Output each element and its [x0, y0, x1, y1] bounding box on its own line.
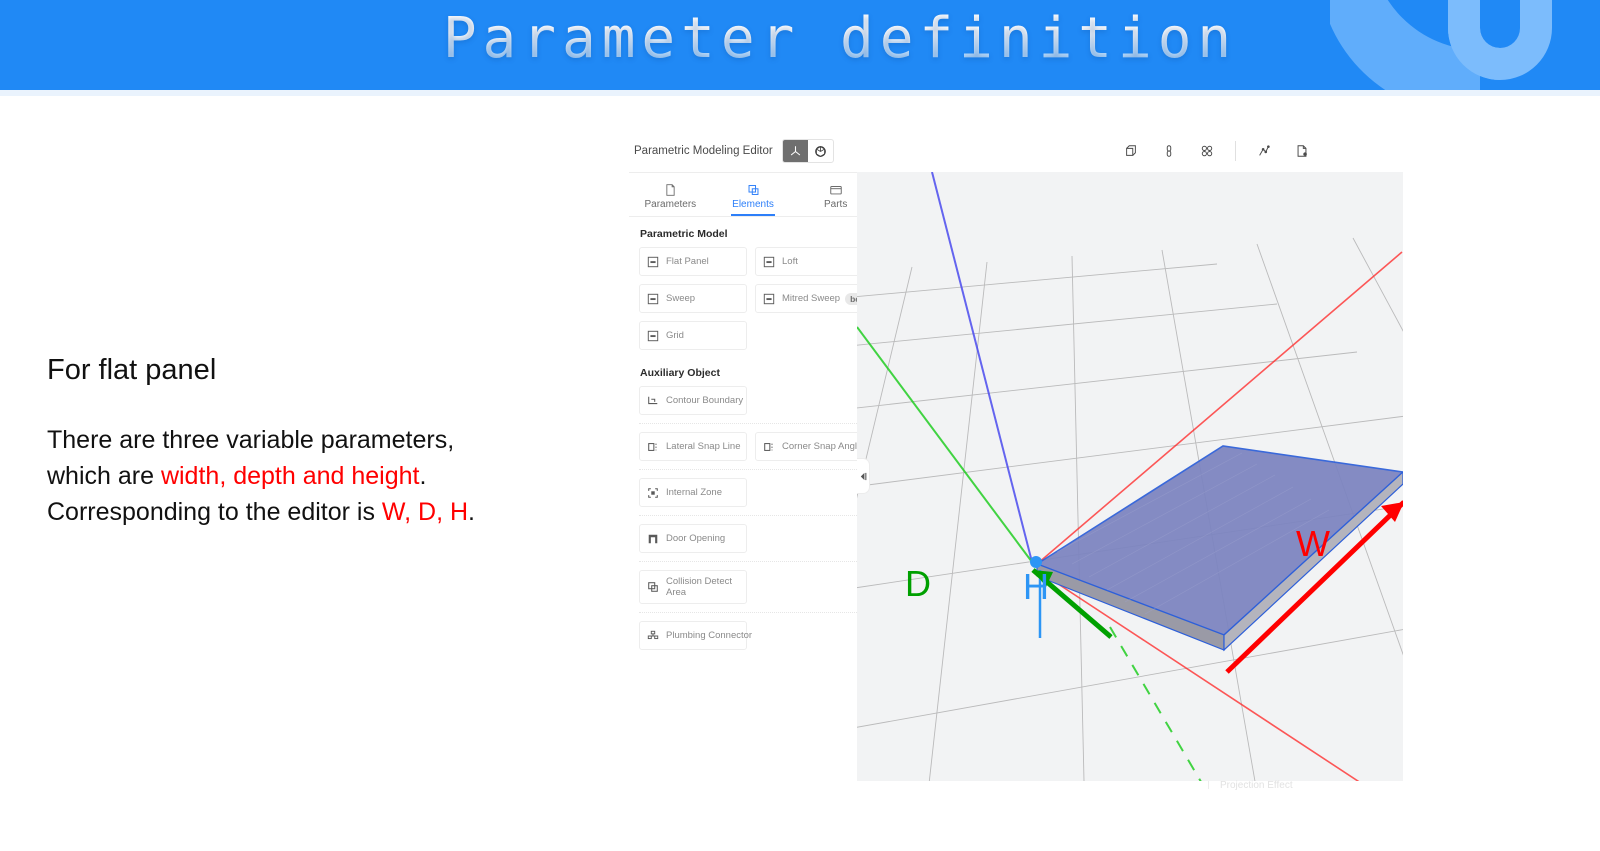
auxiliary-object-items: Contour Boundary: [629, 386, 877, 415]
element-label: Loft: [782, 256, 798, 267]
3d-viewport[interactable]: [857, 172, 1403, 781]
editor-toolbar: [1112, 140, 1321, 162]
parametric-modeling-editor: Parametric Modeling Editor: [608, 131, 1403, 789]
tab-parts-label: Parts: [824, 199, 847, 210]
panel-icon: [762, 292, 775, 305]
snap-line-icon: [646, 440, 659, 453]
zone-icon: [646, 486, 659, 499]
element-contour-boundary[interactable]: Contour Boundary: [639, 386, 747, 415]
element-mitred-sweep[interactable]: Mitred Sweep beta: [755, 284, 863, 313]
element-label: Door Opening: [666, 533, 725, 544]
layers-icon: [747, 183, 760, 197]
folder-icon: [829, 183, 843, 197]
auxiliary-object-items-row2: Lateral Snap Line Corner Snap Angle: [629, 432, 877, 461]
editor-title-group: Parametric Modeling Editor: [634, 139, 834, 163]
sidebar-content: Parametric Model ▲ Flat Panel Loft: [629, 217, 877, 650]
tab-parameters[interactable]: Parameters: [629, 173, 712, 216]
element-grid[interactable]: Grid: [639, 321, 747, 350]
origin-handle: [1030, 556, 1042, 568]
tab-elements[interactable]: Elements: [712, 173, 795, 216]
node-graph-icon[interactable]: [1245, 140, 1283, 162]
element-corner-snap-angle[interactable]: Corner Snap Angle: [755, 432, 863, 461]
auxiliary-object-items-row6: Plumbing Connector: [629, 621, 877, 650]
editor-topbar: Parametric Modeling Editor: [608, 131, 1403, 172]
element-label: Internal Zone: [666, 487, 722, 498]
explanation-block: For flat panel There are three variable …: [47, 348, 587, 530]
editor-sidebar: Parameters Elements Part: [629, 172, 877, 789]
element-label: Mitred Sweep: [782, 293, 840, 304]
panel-icon: [646, 292, 659, 305]
element-label: Lateral Snap Line: [666, 441, 740, 452]
element-loft[interactable]: Loft: [755, 247, 863, 276]
explanation-line2-suffix: .: [420, 462, 427, 490]
element-label: Flat Panel: [666, 256, 709, 267]
footer-label: Projection Effect: [1220, 780, 1293, 791]
explanation-body: There are three variable parameters, whi…: [47, 422, 587, 530]
panel-icon: [646, 255, 659, 268]
explanation-line1-text: There are three variable parameters,: [47, 426, 454, 454]
element-flat-panel[interactable]: Flat Panel: [639, 247, 747, 276]
axis-mode-button[interactable]: [783, 140, 808, 162]
collision-icon: [646, 581, 659, 594]
auxiliary-object-items-row3: Internal Zone: [629, 478, 877, 507]
element-collision-detect-area[interactable]: Collision Detect Area: [639, 570, 747, 604]
document-export-icon[interactable]: [1283, 140, 1321, 162]
element-label: Sweep: [666, 293, 695, 304]
panel-icon: [762, 255, 775, 268]
section-title: Parametric Model: [640, 228, 728, 240]
plumbing-icon: [646, 629, 659, 642]
viewport-scene: [857, 172, 1403, 781]
tab-elements-label: Elements: [732, 199, 774, 210]
element-sweep[interactable]: Sweep: [639, 284, 747, 313]
box-icon[interactable]: [1112, 140, 1150, 162]
element-internal-zone[interactable]: Internal Zone: [639, 478, 747, 507]
section-header-auxiliary-object[interactable]: Auxiliary Object ▲: [629, 350, 877, 386]
sidebar-tabs: Parameters Elements Part: [629, 173, 877, 217]
section-title: Auxiliary Object: [640, 367, 720, 379]
explanation-line-3: Corresponding to the editor is W, D, H.: [47, 494, 587, 530]
mode-switch[interactable]: [782, 139, 834, 163]
element-lateral-snap-line[interactable]: Lateral Snap Line: [639, 432, 747, 461]
explanation-line2-highlight: width, depth and height: [161, 462, 420, 490]
link-icon[interactable]: [1150, 140, 1188, 162]
collapse-left-icon: [859, 472, 868, 481]
page-title: Parameter definition: [0, 6, 1600, 71]
section-header-parametric-model[interactable]: Parametric Model ▲: [629, 217, 877, 247]
explanation-line3-prefix: Corresponding to the editor is: [47, 498, 382, 526]
auxiliary-object-items-row4: Door Opening: [629, 524, 877, 553]
explanation-line3-highlight: W, D, H: [382, 498, 468, 526]
door-icon: [646, 532, 659, 545]
panel-icon: [646, 329, 659, 342]
element-plumbing-connector[interactable]: Plumbing Connector: [639, 621, 747, 650]
explanation-line3-suffix: .: [468, 498, 475, 526]
auxiliary-object-items-row5: Collision Detect Area: [629, 570, 877, 604]
element-label: Corner Snap Angle: [782, 441, 862, 452]
explanation-heading: For flat panel: [47, 348, 587, 392]
toolbar-divider: [1235, 141, 1236, 161]
banner-underline: [0, 90, 1600, 96]
element-door-opening[interactable]: Door Opening: [639, 524, 747, 553]
pattern-icon[interactable]: [1188, 140, 1226, 162]
footer-divider: [1208, 781, 1209, 789]
viewport-footer: [857, 781, 1403, 789]
element-label: Collision Detect Area: [666, 576, 740, 598]
explanation-line-1: There are three variable parameters,: [47, 422, 587, 458]
element-label: Plumbing Connector: [666, 630, 752, 641]
element-label: Contour Boundary: [666, 395, 743, 406]
axis-icon: [789, 145, 802, 158]
cube-icon: [814, 145, 827, 158]
title-banner: Parameter definition: [0, 0, 1600, 90]
explanation-line2-prefix: which are: [47, 462, 161, 490]
document-icon: [664, 183, 677, 197]
editor-title: Parametric Modeling Editor: [634, 145, 773, 157]
explanation-line-2: which are width, depth and height.: [47, 458, 587, 494]
snap-angle-icon: [762, 440, 775, 453]
solid-mode-button[interactable]: [808, 140, 833, 162]
sidebar-collapse-handle[interactable]: [857, 458, 870, 494]
parametric-model-items: Flat Panel Loft Sweep: [629, 247, 877, 350]
tab-parameters-label: Parameters: [644, 199, 696, 210]
contour-icon: [646, 394, 659, 407]
element-label: Grid: [666, 330, 684, 341]
